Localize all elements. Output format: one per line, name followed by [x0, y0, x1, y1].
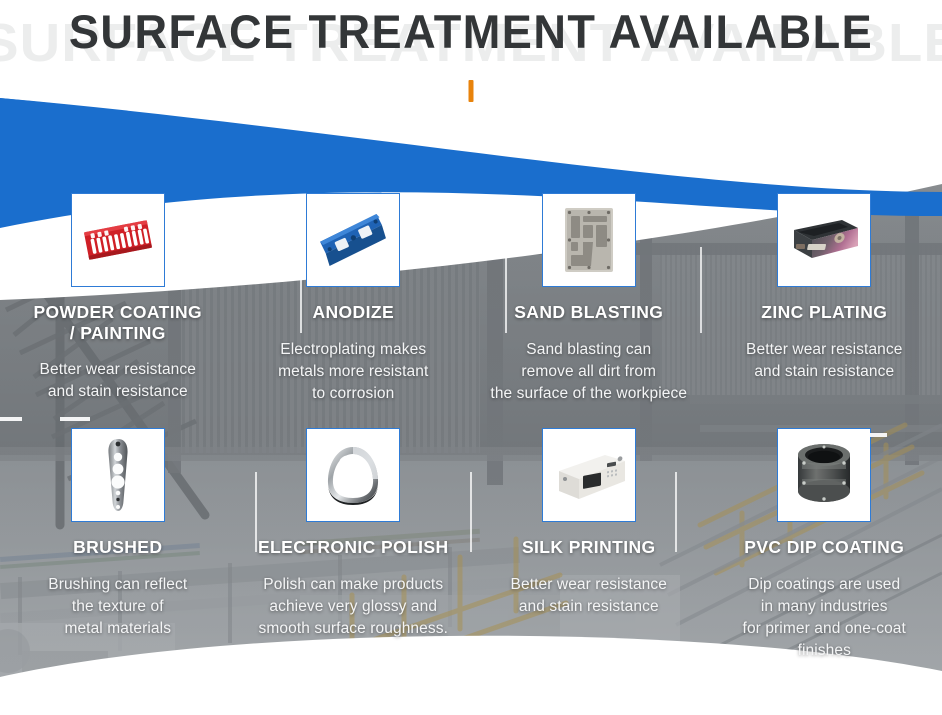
powder-coating-thumbnail[interactable] [71, 193, 165, 287]
treatment-row-2: BRUSHED Brushing can reflect the texture… [0, 420, 942, 670]
card-title: SAND BLASTING [514, 302, 663, 323]
card-title: ELECTRONIC POLISH [258, 537, 449, 558]
brushed-thumbnail[interactable] [71, 428, 165, 522]
treatment-card-zinc-plating[interactable]: ZINC PLATING Better wear resistance and … [707, 185, 942, 420]
page-title: SURFACE TREATMENT AVAILABLE [19, 4, 923, 59]
polished-chrome-ring-part-icon [311, 433, 395, 517]
treatment-card-anodize[interactable]: ANODIZE Electroplating makes metals more… [236, 185, 472, 420]
card-description: Better wear resistance and stain resista… [40, 359, 196, 403]
card-title: PVC DIP COATING [744, 537, 904, 558]
card-description: Electroplating makes metals more resista… [278, 339, 428, 405]
treatment-card-grid: POWDER COATING / PAINTING Better wear re… [0, 185, 942, 670]
treatment-card-powder-coating[interactable]: POWDER COATING / PAINTING Better wear re… [0, 185, 236, 420]
zinc-plating-thumbnail[interactable] [777, 193, 871, 287]
card-title: ANODIZE [312, 302, 394, 323]
card-description: Brushing can reflect the texture of meta… [48, 574, 187, 640]
anodize-thumbnail[interactable] [306, 193, 400, 287]
treatment-card-brushed[interactable]: BRUSHED Brushing can reflect the texture… [0, 420, 236, 670]
card-description: Polish can make products achieve very gl… [259, 574, 448, 640]
pvc-dipped-flange-bushing-part-icon [782, 433, 866, 517]
row-separator-dash [60, 417, 90, 421]
card-title: POWDER COATING / PAINTING [33, 302, 202, 343]
column-divider [300, 247, 302, 333]
card-description: Sand blasting can remove all dirt from t… [490, 339, 687, 405]
brushed-metal-lever-part-icon [76, 433, 160, 517]
sand-blasting-thumbnail[interactable] [542, 193, 636, 287]
silk-printing-thumbnail[interactable] [542, 428, 636, 522]
surface-treatment-poster: SURFACE TREATMENT AVAILABLE SURFACE TREA… [0, 0, 942, 715]
row-separator-dash [855, 433, 887, 437]
card-description: Better wear resistance and stain resista… [746, 339, 902, 383]
treatment-card-silk-printing[interactable]: SILK PRINTING Better wear resistance and… [471, 420, 707, 670]
poster-header: SURFACE TREATMENT AVAILABLE SURFACE TREA… [0, 0, 942, 100]
column-divider [675, 472, 677, 552]
machined-chassis-plate-part-icon [547, 198, 631, 282]
column-divider [700, 247, 702, 333]
treatment-row-1: POWDER COATING / PAINTING Better wear re… [0, 185, 942, 420]
column-divider [470, 472, 472, 552]
column-divider [255, 472, 257, 552]
card-description: Better wear resistance and stain resista… [511, 574, 667, 618]
card-title: SILK PRINTING [522, 537, 656, 558]
row-separator-dash [0, 417, 22, 421]
electronic-polish-thumbnail[interactable] [306, 428, 400, 522]
treatment-card-electronic-polish[interactable]: ELECTRONIC POLISH Polish can make produc… [236, 420, 472, 670]
blue-anodized-bracket-part-icon [311, 198, 395, 282]
column-divider [505, 247, 507, 333]
card-title: BRUSHED [73, 537, 162, 558]
treatment-card-pvc-dip-coating[interactable]: PVC DIP COATING Dip coatings are used in… [707, 420, 942, 670]
card-description: Dip coatings are used in many industries… [743, 574, 906, 662]
white-rackmount-chassis-part-icon [547, 433, 631, 517]
red-slotted-tray-part-icon [76, 198, 160, 282]
card-title: ZINC PLATING [761, 302, 887, 323]
pvc-dip-coating-thumbnail[interactable] [777, 428, 871, 522]
title-accent-mark [469, 80, 474, 102]
zinc-plated-enclosure-part-icon [782, 198, 866, 282]
